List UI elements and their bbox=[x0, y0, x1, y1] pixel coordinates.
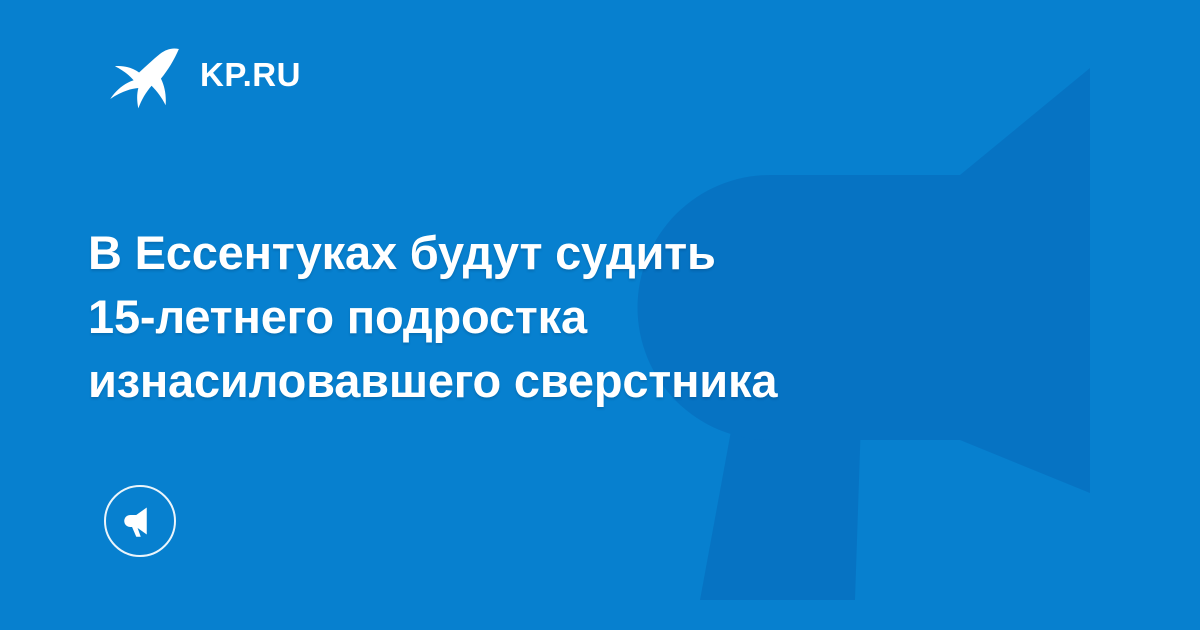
site-logo[interactable]: KP.RU bbox=[104, 32, 301, 116]
headline-line-3: изнасиловавшего сверстника bbox=[88, 349, 1008, 413]
page-title: В Ессентуках будут судить 15-летнего под… bbox=[88, 221, 1008, 413]
swallow-bird-icon bbox=[104, 35, 182, 113]
megaphone-badge[interactable] bbox=[104, 485, 176, 557]
headline-line-1: В Ессентуках будут судить bbox=[88, 221, 1008, 285]
headline-line-2: 15-летнего подростка bbox=[88, 285, 1008, 349]
megaphone-icon bbox=[122, 503, 158, 539]
news-share-card: KP.RU В Ессентуках будут судить 15-летне… bbox=[0, 0, 1200, 630]
brand-wordmark: KP.RU bbox=[200, 58, 301, 91]
